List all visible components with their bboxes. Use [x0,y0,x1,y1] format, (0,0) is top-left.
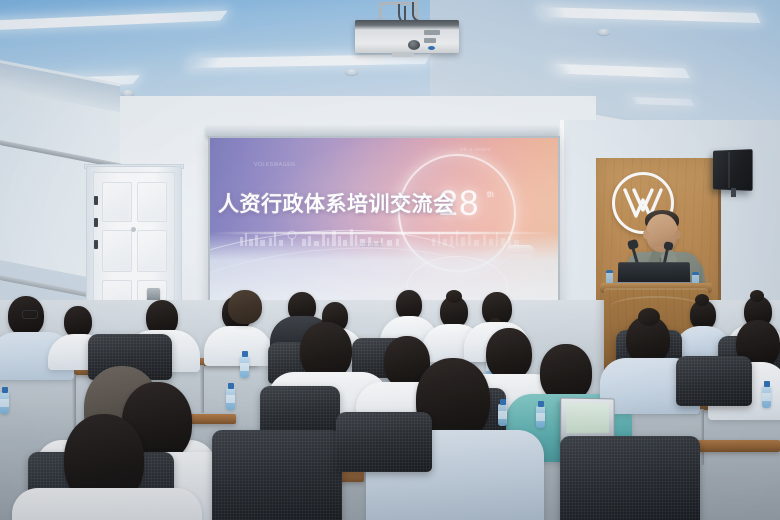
person-shoulders [12,488,202,520]
door-hinge [94,196,98,205]
slide-subtitle-right: HR & ADMIN [460,147,491,152]
projector-mount-rod [379,2,382,22]
slide-title: 人资行政体系培训交流会 [218,188,448,218]
water-bottle-icon [226,388,235,410]
ceiling-projector [355,20,459,53]
office-chair[interactable] [212,430,342,520]
water-bottle-icon [240,356,249,378]
desk-leg [72,374,76,428]
person-shoulders [204,326,272,366]
door-panel [102,230,132,272]
presenter-ear [675,230,681,239]
attendee-laptop-screen [566,403,609,434]
door-knob-icon[interactable] [131,227,136,232]
water-bottle-icon [0,392,9,414]
photo-scene: 28 th VOLKSWAGEN HR & ADMIN 人资行政体系培训交流会 [0,0,780,520]
desk-leg [200,365,204,413]
office-chair[interactable] [676,356,752,406]
projector-foot [392,52,414,57]
water-bottle-icon [762,386,771,408]
wall-speaker-icon [713,149,753,191]
water-bottle-icon [536,406,545,428]
hair-bun [750,290,764,302]
smoke-detector-icon [597,29,610,35]
eyeglasses-icon [22,310,38,319]
hair-bun [695,294,709,306]
door-panel [102,182,132,222]
slide-subtitle-left: VOLKSWAGEN [254,162,295,168]
wall-speaker-seam [728,152,730,188]
office-chair[interactable] [336,412,432,472]
podium-laptop[interactable] [618,262,690,284]
office-chair[interactable] [260,386,340,436]
projector-cable [412,2,420,22]
projector-port [424,30,440,35]
office-chair[interactable] [560,436,700,520]
desk-leg [700,409,704,465]
slide-date-text: 2023.28日 [360,242,383,249]
hair-bun [638,308,660,326]
projector-port [428,46,435,50]
projection-screen: 28 th VOLKSWAGEN HR & ADMIN 人资行政体系培训交流会 [210,138,558,306]
door-hinge [94,240,98,249]
hair-bun [446,290,462,303]
water-bottle-icon [498,404,507,426]
door-hinge [94,218,98,227]
smoke-detector-icon [345,69,358,75]
wall-speaker-bracket [731,188,736,197]
door-panel [137,230,167,272]
slide-anniversary-superscript: th [487,190,494,199]
person-head [486,328,532,380]
projection-screen-frame: 28 th VOLKSWAGEN HR & ADMIN 人资行政体系培训交流会 [208,136,560,308]
door-panel [137,182,167,222]
person-head [228,290,262,324]
projector-lens-icon [408,40,420,50]
projector-port [424,38,436,43]
presenter-ear [643,230,649,239]
